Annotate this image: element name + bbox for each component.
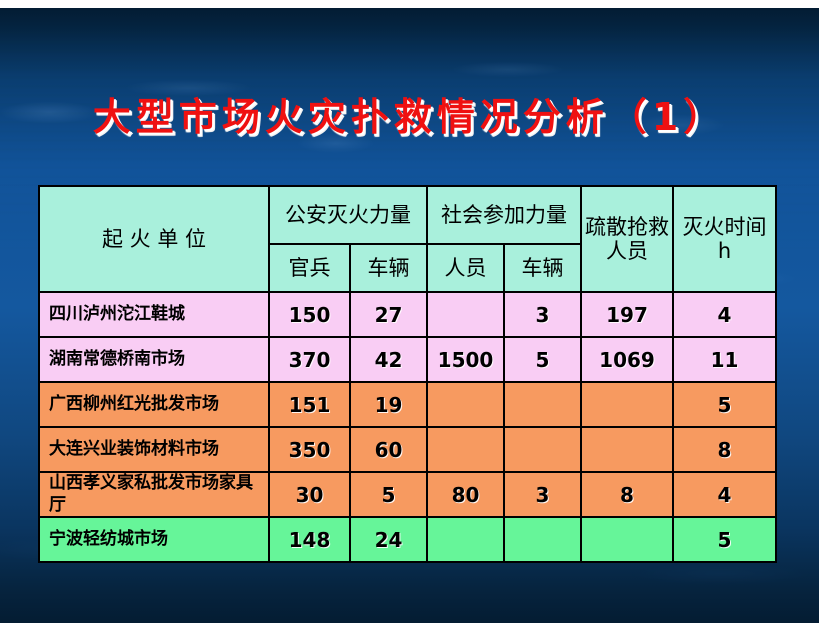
cell-police-vehicles: 5 — [350, 472, 427, 517]
cell-police-vehicles: 24 — [350, 517, 427, 562]
table-row: 宁波轻纺城市场148245 — [39, 517, 776, 562]
cell-evacuated — [581, 517, 673, 562]
slide: 大型市场火灾扑救情况分析（1） 起 火 单 位 公安灭火力量 社会参加力量 疏散… — [0, 0, 819, 623]
column-header-social-personnel: 人员 — [427, 244, 504, 292]
table-row: 大连兴业装饰材料市场350608 — [39, 427, 776, 472]
cell-police-vehicles: 60 — [350, 427, 427, 472]
cell-social-vehicles — [504, 517, 581, 562]
cell-police-personnel: 151 — [269, 382, 350, 427]
cell-social-vehicles — [504, 382, 581, 427]
cell-duration: 5 — [673, 517, 776, 562]
cell-social-vehicles — [504, 427, 581, 472]
cell-evacuated: 8 — [581, 472, 673, 517]
column-header-police-personnel: 官兵 — [269, 244, 350, 292]
cell-evacuated — [581, 382, 673, 427]
cell-unit: 四川泸州沱江鞋城 — [39, 292, 269, 337]
cell-police-personnel: 370 — [269, 337, 350, 382]
cell-unit: 湖南常德桥南市场 — [39, 337, 269, 382]
cell-police-vehicles: 42 — [350, 337, 427, 382]
slide-canvas: 大型市场火灾扑救情况分析（1） 起 火 单 位 公安灭火力量 社会参加力量 疏散… — [0, 8, 819, 623]
cell-duration: 11 — [673, 337, 776, 382]
cell-unit: 大连兴业装饰材料市场 — [39, 427, 269, 472]
cell-evacuated: 197 — [581, 292, 673, 337]
table-body: 四川泸州沱江鞋城1502731974湖南常德桥南市场37042150051069… — [39, 292, 776, 562]
cell-police-personnel: 148 — [269, 517, 350, 562]
cell-police-personnel: 350 — [269, 427, 350, 472]
cell-social-personnel — [427, 517, 504, 562]
cell-social-personnel: 1500 — [427, 337, 504, 382]
cell-police-vehicles: 27 — [350, 292, 427, 337]
cell-duration: 4 — [673, 472, 776, 517]
table-header-row-top: 起 火 单 位 公安灭火力量 社会参加力量 疏散抢救人员 灭火时间 h — [39, 186, 776, 244]
column-header-social-force: 社会参加力量 — [427, 186, 581, 244]
column-header-police-vehicles: 车辆 — [350, 244, 427, 292]
cell-social-personnel — [427, 382, 504, 427]
cell-social-personnel: 80 — [427, 472, 504, 517]
column-header-duration: 灭火时间 h — [673, 186, 776, 292]
cell-police-personnel: 30 — [269, 472, 350, 517]
cell-unit: 山西孝义家私批发市场家具厅 — [39, 472, 269, 517]
cell-duration: 8 — [673, 427, 776, 472]
cell-social-personnel — [427, 427, 504, 472]
table-row: 广西柳州红光批发市场151195 — [39, 382, 776, 427]
table-row: 四川泸州沱江鞋城1502731974 — [39, 292, 776, 337]
column-header-unit: 起 火 单 位 — [39, 186, 269, 292]
cell-social-vehicles: 5 — [504, 337, 581, 382]
column-header-police-force: 公安灭火力量 — [269, 186, 427, 244]
table-row: 山西孝义家私批发市场家具厅30580384 — [39, 472, 776, 517]
cell-social-personnel — [427, 292, 504, 337]
cell-duration: 4 — [673, 292, 776, 337]
cell-unit: 宁波轻纺城市场 — [39, 517, 269, 562]
table-row: 湖南常德桥南市场3704215005106911 — [39, 337, 776, 382]
fire-statistics-table: 起 火 单 位 公安灭火力量 社会参加力量 疏散抢救人员 灭火时间 h 官兵 车… — [38, 185, 777, 563]
cell-evacuated: 1069 — [581, 337, 673, 382]
cell-social-vehicles: 3 — [504, 472, 581, 517]
cell-duration: 5 — [673, 382, 776, 427]
page-title: 大型市场火灾扑救情况分析（1） — [0, 86, 819, 141]
column-header-evacuated: 疏散抢救人员 — [581, 186, 673, 292]
cell-police-vehicles: 19 — [350, 382, 427, 427]
cell-police-personnel: 150 — [269, 292, 350, 337]
table-header: 起 火 单 位 公安灭火力量 社会参加力量 疏散抢救人员 灭火时间 h 官兵 车… — [39, 186, 776, 292]
cell-unit: 广西柳州红光批发市场 — [39, 382, 269, 427]
cell-social-vehicles: 3 — [504, 292, 581, 337]
cell-evacuated — [581, 427, 673, 472]
column-header-social-vehicles: 车辆 — [504, 244, 581, 292]
